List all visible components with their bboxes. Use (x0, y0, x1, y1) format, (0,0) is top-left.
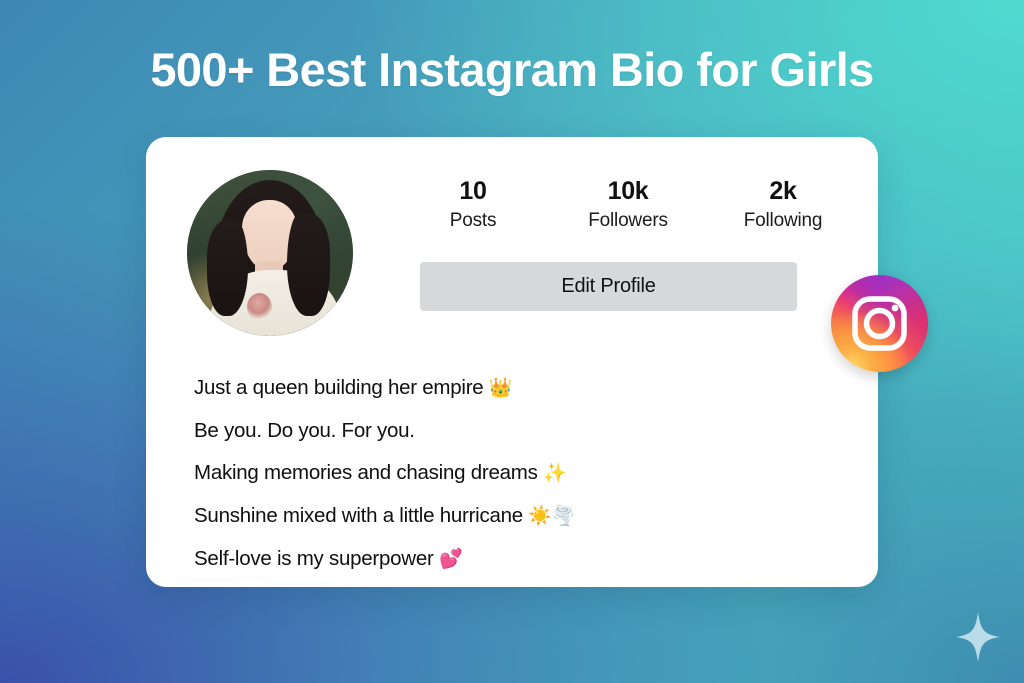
poster-canvas: 500+ Best Instagram Bio for Girls Profil… (0, 0, 1024, 683)
avatar[interactable]: Profile photo of a young woman with long… (187, 170, 353, 336)
bio-line-text: Sunshine mixed with a little hurricane (194, 504, 523, 527)
bio-line-text: Just a queen building her empire (194, 376, 483, 399)
bio-line: Just a queen building her empire 👑 (194, 367, 834, 410)
stats-row: 10 Posts 10k Followers 2k Following (418, 177, 838, 232)
sun-tornado-emoji: ☀️🌪️ (528, 506, 575, 527)
stat-followers-label: Followers (573, 210, 683, 232)
bio-line: Making memories and chasing dreams ✨ (194, 452, 834, 495)
bio-line: Be you. Do you. For you. (194, 410, 834, 452)
bio-line: Self-love is my superpower 💕 (194, 538, 834, 581)
sparkles-emoji: ✨ (543, 463, 566, 484)
avatar-brooch (247, 293, 272, 321)
crown-emoji: 👑 (489, 378, 512, 399)
stat-following-label: Following (728, 210, 838, 232)
bio-list: Just a queen building her empire 👑 Be yo… (194, 367, 834, 581)
bio-line: Sunshine mixed with a little hurricane ☀… (194, 495, 834, 538)
bio-line-text: Making memories and chasing dreams (194, 461, 538, 484)
stat-posts-label: Posts (418, 210, 528, 232)
stat-following-value: 2k (728, 177, 838, 205)
avatar-hair-left (207, 220, 249, 316)
instagram-profile-card: Profile photo of a young woman with long… (146, 137, 878, 587)
stat-followers[interactable]: 10k Followers (573, 177, 683, 232)
edit-profile-button[interactable]: Edit Profile (420, 262, 797, 311)
stat-posts-value: 10 (418, 177, 528, 205)
stat-following[interactable]: 2k Following (728, 177, 838, 232)
instagram-icon[interactable] (831, 275, 928, 372)
sparkle-icon (956, 612, 1000, 662)
two-hearts-emoji: 💕 (439, 549, 462, 570)
stat-followers-value: 10k (573, 177, 683, 205)
avatar-hair-right (287, 213, 330, 316)
page-title: 500+ Best Instagram Bio for Girls (0, 42, 1024, 97)
stat-posts[interactable]: 10 Posts (418, 177, 528, 232)
bio-line-text: Self-love is my superpower (194, 547, 434, 570)
bio-line-text: Be you. Do you. For you. (194, 419, 415, 442)
